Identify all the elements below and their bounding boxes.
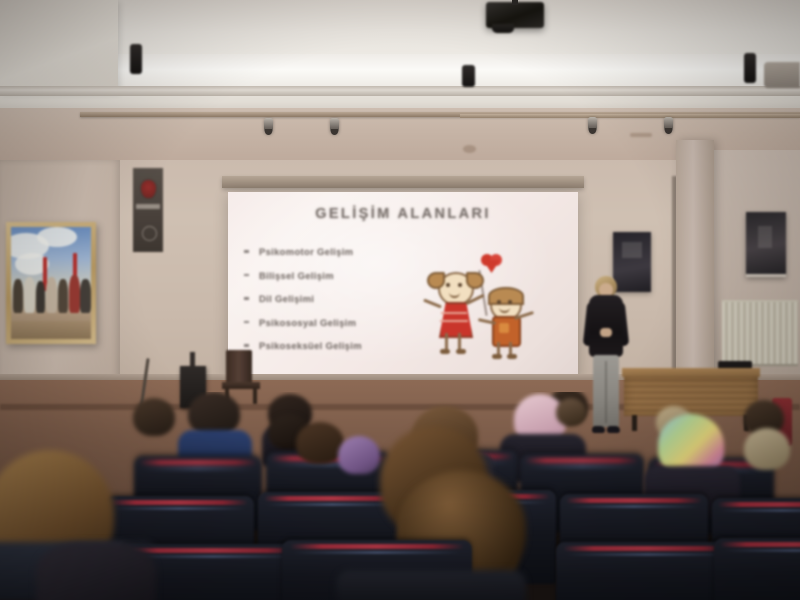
- painting-figure-3: [36, 281, 45, 313]
- attendee-head: [36, 542, 156, 600]
- clipart-girl-pigtail-left: [427, 272, 445, 289]
- track-spotlight-1: [264, 118, 273, 134]
- radiator: [722, 300, 798, 366]
- presenter-hands: [600, 328, 612, 337]
- clipart-boy-body-detail: [499, 323, 509, 333]
- audience-area: [0, 392, 800, 600]
- ceiling-speaker-right: [744, 53, 756, 83]
- ceiling-speaker-center: [462, 65, 475, 87]
- ceiling-duct-right: [764, 62, 800, 88]
- attendee-headscarf: [338, 436, 380, 474]
- clipart-boy-eye-left: [497, 300, 501, 304]
- track-spotlight-4: [664, 117, 673, 133]
- seat: [556, 542, 740, 600]
- clipart-girl-eye-right: [458, 283, 462, 287]
- attendee-head: [296, 422, 344, 464]
- clipart-girl-arm-left: [423, 299, 442, 309]
- painting-ground: [11, 321, 91, 339]
- attendee-body: [336, 570, 526, 600]
- clipart-boy-eye-right: [508, 300, 512, 304]
- clipart-girl-dress-stripe: [441, 312, 467, 314]
- clipart-boy-shoe-left: [492, 354, 502, 359]
- clipart-girl-shoe-right: [456, 349, 466, 354]
- painting-cloud-2: [37, 227, 77, 247]
- slide-bullet-item: Psikoseksüel Gelişim: [242, 340, 442, 351]
- ceiling-bulkhead: [0, 0, 118, 92]
- painting-figure-1: [13, 279, 23, 313]
- painting-figure-7: [80, 279, 91, 313]
- painting-figure-6: [69, 275, 80, 313]
- clipart-girl-eye-left: [446, 283, 450, 287]
- clipart-boy-shoe-right: [507, 354, 517, 359]
- wall-pennant: [133, 168, 163, 252]
- presentation-photo: GELİŞİM ALANLARI Psikomotor Gelişim Bili…: [0, 0, 800, 600]
- projection-screen: GELİŞİM ALANLARI Psikomotor Gelişim Bili…: [228, 192, 578, 380]
- heart-balloon-icon: [481, 254, 503, 273]
- painting-figure-4: [46, 277, 57, 313]
- chair-back: [226, 350, 252, 384]
- clipart-boy-hair: [488, 287, 524, 305]
- children-clipart: [424, 250, 552, 360]
- screen-housing: [222, 176, 584, 188]
- wall-poster-right: [746, 212, 786, 277]
- slide-bullet-item: Bilişsel Gelişim: [242, 270, 442, 281]
- slide-bullet-item: Psikososyal Gelişim: [242, 317, 442, 328]
- attendee-head: [744, 428, 790, 470]
- clipart-girl-dress-stripe: [440, 320, 468, 322]
- attendee-head: [556, 398, 586, 426]
- slide-bullet-item: Psikomotor Gelişim: [242, 246, 442, 257]
- track-spotlight-3: [588, 117, 597, 133]
- clipart-girl-shoe-left: [440, 349, 450, 354]
- seat: [714, 538, 800, 600]
- projector-lens: [492, 24, 514, 33]
- painting-figure-5: [58, 279, 68, 313]
- framed-painting: [6, 222, 96, 344]
- attendee-head: [133, 398, 175, 436]
- lighting-track-right: [460, 114, 800, 118]
- presenter-torso: [589, 295, 623, 357]
- slide-bullet-list: Psikomotor Gelişim Bilişsel Gelişim Dil …: [242, 246, 442, 364]
- ceiling-mark: [463, 145, 476, 153]
- clipart-girl-pigtail-right: [466, 272, 484, 289]
- pennant-text-block: [136, 204, 160, 209]
- ceiling-vent-mark: [630, 133, 652, 137]
- ceiling-beam: [0, 86, 800, 96]
- slide-title: GELİŞİM ALANLARI: [228, 206, 578, 222]
- track-spotlight-2: [330, 118, 339, 134]
- seal-icon: [142, 226, 157, 241]
- ceiling-speaker-left: [130, 44, 142, 74]
- projector-mount: [512, 0, 518, 5]
- crest-icon: [141, 180, 156, 198]
- painting-figure-2: [24, 277, 35, 313]
- slide-bullet-item: Dil Gelişimi: [242, 293, 442, 304]
- painting-canvas: [11, 227, 91, 339]
